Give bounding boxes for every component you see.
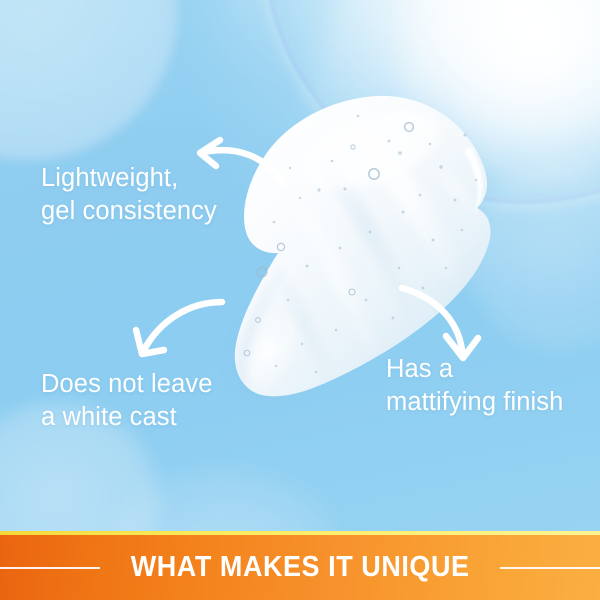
callout-label-mattifying: Has a mattifying finish (386, 353, 563, 420)
callout-label-lightweight: Lightweight, gel consistency (41, 162, 217, 229)
banner-title: WHAT MAKES IT UNIQUE (131, 551, 470, 584)
banner-rule-right (500, 567, 600, 569)
banner-content: WHAT MAKES IT UNIQUE (0, 535, 600, 600)
product-feature-graphic: Lightweight, gel consistency Does not le… (0, 0, 600, 600)
callout-label-no-white-cast: Does not leave a white cast (41, 368, 213, 435)
bottom-banner: WHAT MAKES IT UNIQUE (0, 531, 600, 600)
banner-rule-left (0, 567, 100, 569)
